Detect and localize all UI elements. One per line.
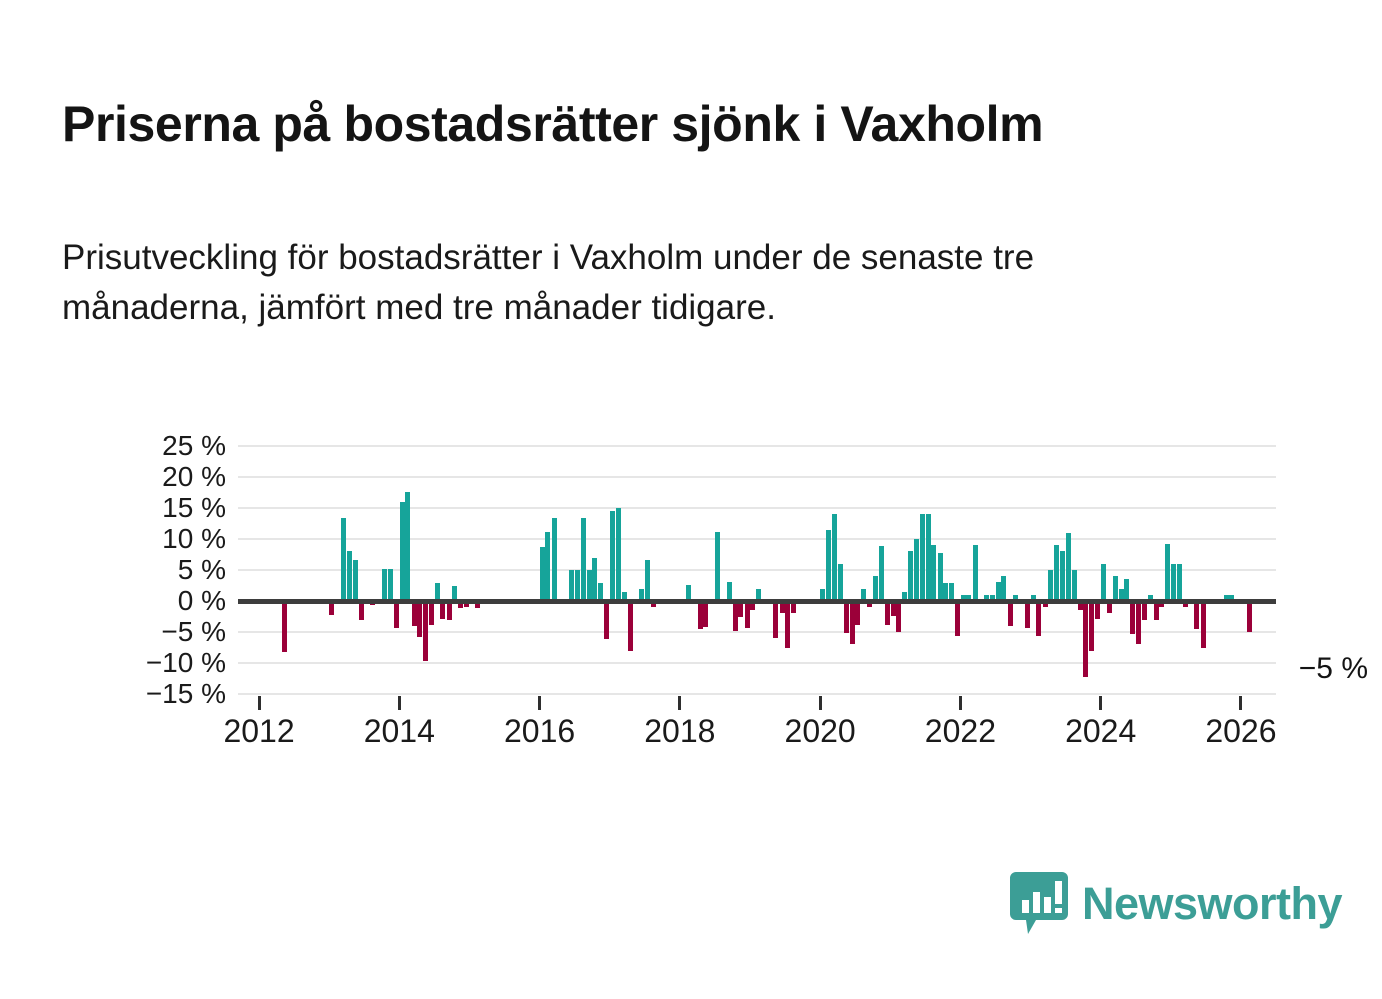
bar-chart: 25 %20 %15 %10 %5 %0 %−5 %−10 %−15 % 201…	[0, 420, 1382, 760]
x-axis-tick-label: 2012	[223, 714, 294, 748]
x-axis-tick-label: 2026	[1205, 714, 1276, 748]
bar	[282, 601, 287, 652]
bar	[1001, 576, 1006, 601]
bar	[1089, 601, 1094, 651]
x-axis-tick	[398, 696, 401, 710]
brand-name: Newsworthy	[1082, 881, 1342, 926]
x-axis-tick-label: 2020	[785, 714, 856, 748]
bar	[382, 569, 387, 601]
bar	[703, 601, 708, 627]
x-axis: 20122014201620182020202220242026	[238, 694, 1276, 760]
bar	[569, 570, 574, 601]
bar	[1101, 564, 1106, 601]
bar	[1048, 570, 1053, 601]
bar	[610, 511, 615, 601]
plot-area	[238, 446, 1276, 694]
bar	[1113, 576, 1118, 601]
bar	[879, 546, 884, 601]
bar	[745, 601, 750, 628]
x-axis-tick	[1239, 696, 1242, 710]
bar	[405, 492, 410, 601]
bar	[604, 601, 609, 639]
bar	[1171, 564, 1176, 601]
newsworthy-logo: Newsworthy	[1010, 872, 1342, 934]
bar	[581, 518, 586, 601]
x-axis-tick-label: 2016	[504, 714, 575, 748]
bar	[914, 539, 919, 601]
bar	[826, 530, 831, 601]
zero-line	[238, 599, 1276, 604]
bar	[855, 601, 860, 625]
bar	[545, 532, 550, 601]
y-axis-tick-label: 25 %	[162, 432, 226, 460]
page-title: Priserna på bostadsrätter sjönk i Vaxhol…	[62, 96, 1322, 152]
bar	[698, 601, 703, 629]
bar	[931, 545, 936, 601]
bar	[1194, 601, 1199, 629]
bar	[908, 551, 913, 601]
page-subtitle: Prisutveckling för bostadsrätter i Vaxho…	[62, 233, 1202, 332]
x-axis-tick-label: 2022	[925, 714, 996, 748]
bar	[873, 576, 878, 601]
bar	[616, 508, 621, 601]
y-axis-tick-label: 15 %	[162, 494, 226, 522]
x-axis-tick	[819, 696, 822, 710]
bar-series	[238, 446, 1276, 694]
y-axis-tick-label: −10 %	[146, 649, 226, 677]
bar	[785, 601, 790, 648]
bar	[1201, 601, 1206, 648]
x-axis-tick	[678, 696, 681, 710]
bar	[429, 601, 434, 625]
bar	[1165, 544, 1170, 601]
bar	[926, 514, 931, 601]
bar	[1054, 545, 1059, 601]
y-axis-tick-label: −15 %	[146, 680, 226, 708]
y-axis-tick-label: 5 %	[178, 556, 226, 584]
x-axis-tick-label: 2024	[1065, 714, 1136, 748]
bar	[347, 551, 352, 601]
bar	[885, 601, 890, 625]
x-axis-tick	[538, 696, 541, 710]
bar	[628, 601, 633, 651]
x-axis-tick-label: 2014	[364, 714, 435, 748]
y-axis-tick-label: 0 %	[178, 587, 226, 615]
bar	[920, 514, 925, 601]
y-axis-tick-label: 20 %	[162, 463, 226, 491]
bar	[938, 553, 943, 601]
bar	[832, 514, 837, 601]
x-axis-tick-label: 2018	[644, 714, 715, 748]
bar	[850, 601, 855, 644]
bar	[955, 601, 960, 636]
bar	[838, 564, 843, 601]
bar	[645, 560, 650, 601]
bar	[1124, 579, 1129, 601]
bar	[1177, 564, 1182, 601]
bar	[394, 601, 399, 628]
bar	[896, 601, 901, 632]
bar	[575, 570, 580, 601]
y-axis-tick-label: 10 %	[162, 525, 226, 553]
bar	[1066, 533, 1071, 601]
bar	[1083, 601, 1088, 677]
bar	[1072, 570, 1077, 601]
bar-chart-speech-bubble-icon	[1010, 872, 1068, 934]
bar	[417, 601, 422, 637]
bar	[592, 558, 597, 601]
bar	[715, 532, 720, 601]
x-axis-tick	[959, 696, 962, 710]
bar	[1247, 601, 1252, 632]
bar	[1008, 601, 1013, 626]
bar	[540, 547, 545, 601]
x-axis-tick	[258, 696, 261, 710]
bar	[1130, 601, 1135, 634]
bar	[587, 570, 592, 601]
last-value-annotation: −5 %	[1295, 652, 1372, 686]
bar	[1060, 551, 1065, 601]
bar	[400, 502, 405, 601]
bar	[844, 601, 849, 633]
bar	[341, 518, 346, 601]
bar	[1136, 601, 1141, 644]
bar	[973, 545, 978, 601]
bar	[552, 518, 557, 601]
bar	[733, 601, 738, 631]
bar	[1025, 601, 1030, 628]
bar	[1036, 601, 1041, 636]
bar	[423, 601, 428, 661]
x-axis-tick	[1099, 696, 1102, 710]
chart-page: Priserna på bostadsrätter sjönk i Vaxhol…	[0, 0, 1382, 999]
bar	[773, 601, 778, 638]
bar	[353, 560, 358, 601]
bar	[412, 601, 417, 626]
y-axis-tick-label: −5 %	[161, 618, 226, 646]
bar	[388, 569, 393, 601]
